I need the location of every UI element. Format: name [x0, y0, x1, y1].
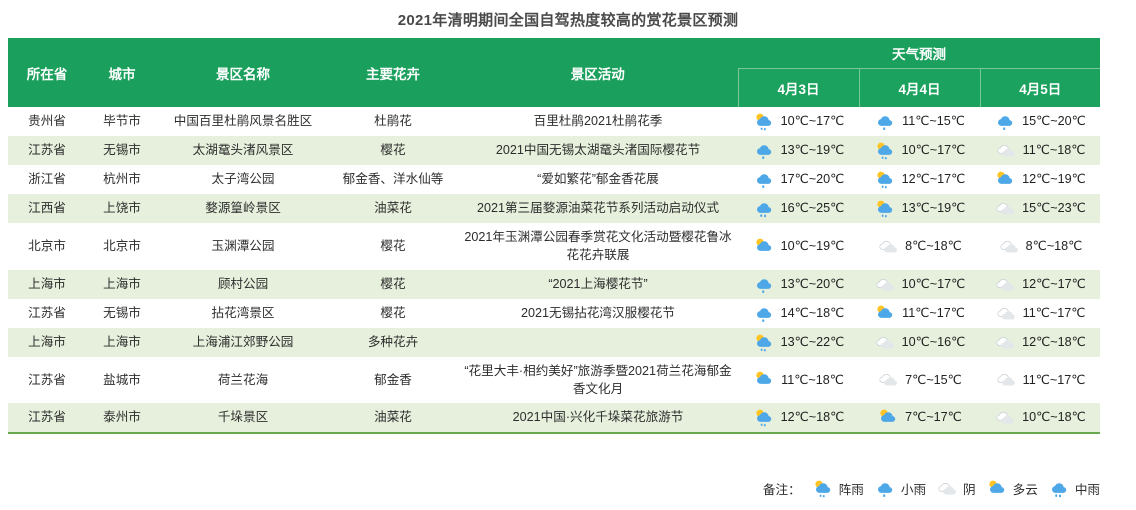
cell-city: 毕节市	[86, 107, 158, 136]
table-row[interactable]: 上海市上海市上海浦江郊野公园多种花卉13℃~22℃10℃~16℃12℃~18℃	[8, 328, 1100, 357]
cell-weather-day-3: 11℃~18℃	[980, 136, 1100, 165]
cell-city: 无锡市	[86, 136, 158, 165]
cell-main-flower: 郁金香、洋水仙等	[328, 165, 458, 194]
cell-weather-day-3: 10℃~18℃	[980, 403, 1100, 433]
cell-weather-day-1: 10℃~19℃	[738, 223, 859, 270]
header-row-main: 所在省 城市 景区名称 主要花卉 景区活动 天气预测	[8, 38, 1100, 69]
cell-city: 杭州市	[86, 165, 158, 194]
table-row[interactable]: 江西省上饶市婺源篁岭景区油菜花2021第三届婺源油菜花节系列活动启动仪式16℃~…	[8, 194, 1100, 223]
cell-scenic-activity: 2021中国·兴化千垛菜花旅游节	[458, 403, 738, 433]
cell-main-flower: 樱花	[328, 223, 458, 270]
cell-scenic-name: 太湖鼋头渚风景区	[158, 136, 328, 165]
cell-weather-day-2: 11℃~15℃	[859, 107, 980, 136]
shower-icon	[751, 333, 777, 352]
legend-label: 多云	[1012, 479, 1038, 498]
cloudy-icon	[984, 479, 1010, 498]
cell-scenic-name: 顾村公园	[158, 270, 328, 299]
col-header-city[interactable]: 城市	[86, 38, 158, 107]
temperature-range: 14℃~18℃	[781, 304, 845, 322]
cell-scenic-name: 婺源篁岭景区	[158, 194, 328, 223]
cell-weather-day-1: 13℃~20℃	[738, 270, 859, 299]
cell-scenic-activity: “爱如繁花”郁金香花展	[458, 165, 738, 194]
cell-weather-day-1: 13℃~22℃	[738, 328, 859, 357]
shower-icon	[872, 170, 898, 189]
temperature-range: 11℃~17℃	[1023, 371, 1086, 389]
table-row[interactable]: 江苏省无锡市太湖鼋头渚风景区樱花2021中国无锡太湖鼋头渚国际樱花节13℃~19…	[8, 136, 1100, 165]
cell-province: 上海市	[8, 328, 86, 357]
cell-scenic-name: 上海浦江郊野公园	[158, 328, 328, 357]
cell-main-flower: 油菜花	[328, 194, 458, 223]
legend-title: 备注：	[763, 479, 801, 498]
cell-city: 盐城市	[86, 357, 158, 404]
cell-weather-day-2: 10℃~17℃	[859, 136, 980, 165]
cell-city: 泰州市	[86, 403, 158, 433]
overcast-icon	[872, 333, 898, 352]
cell-scenic-name: 太子湾公园	[158, 165, 328, 194]
col-header-day-1[interactable]: 4月3日	[738, 69, 859, 108]
cell-weather-day-2: 11℃~17℃	[859, 299, 980, 328]
light-rain-icon	[872, 479, 898, 498]
table-row[interactable]: 江苏省盐城市荷兰花海郁金香“花里大丰·相约美好”旅游季暨2021荷兰花海郁金香文…	[8, 357, 1100, 404]
temperature-range: 12℃~17℃	[902, 170, 966, 188]
cell-scenic-name: 中国百里杜鹃风景名胜区	[158, 107, 328, 136]
overcast-icon	[872, 275, 898, 294]
col-header-weather-group: 天气预测	[738, 38, 1100, 69]
cell-city: 无锡市	[86, 299, 158, 328]
light-rain-icon	[872, 112, 898, 131]
cell-main-flower: 樱花	[328, 270, 458, 299]
cell-main-flower: 郁金香	[328, 357, 458, 404]
cloudy-icon	[751, 370, 777, 389]
cell-weather-day-2: 7℃~17℃	[859, 403, 980, 433]
temperature-range: 12℃~18℃	[781, 408, 845, 426]
moderate-rain-icon	[751, 199, 777, 218]
cell-main-flower: 樱花	[328, 136, 458, 165]
cell-scenic-activity: “2021上海樱花节”	[458, 270, 738, 299]
legend-item: 小雨	[872, 479, 926, 498]
temperature-range: 11℃~17℃	[902, 304, 965, 322]
cell-weather-day-2: 8℃~18℃	[859, 223, 980, 270]
temperature-range: 13℃~22℃	[781, 333, 845, 351]
col-header-day-3[interactable]: 4月5日	[980, 69, 1100, 108]
overcast-icon	[993, 141, 1019, 160]
cell-scenic-activity: 2021无锡拈花湾汉服樱花节	[458, 299, 738, 328]
cell-scenic-activity: “花里大丰·相约美好”旅游季暨2021荷兰花海郁金香文化月	[458, 357, 738, 404]
cell-weather-day-3: 11℃~17℃	[980, 357, 1100, 404]
table-row[interactable]: 江苏省泰州市千垛景区油菜花2021中国·兴化千垛菜花旅游节12℃~18℃7℃~1…	[8, 403, 1100, 433]
cell-city: 北京市	[86, 223, 158, 270]
table-row[interactable]: 江苏省无锡市拈花湾景区樱花2021无锡拈花湾汉服樱花节14℃~18℃11℃~17…	[8, 299, 1100, 328]
legend-label: 阵雨	[838, 479, 864, 498]
shower-icon	[751, 408, 777, 427]
cloudy-icon	[875, 408, 901, 427]
shower-icon	[872, 199, 898, 218]
cell-weather-day-3: 12℃~19℃	[980, 165, 1100, 194]
temperature-range: 11℃~18℃	[1023, 141, 1086, 159]
cell-scenic-name: 千垛景区	[158, 403, 328, 433]
temperature-range: 15℃~23℃	[1022, 199, 1086, 217]
cell-main-flower: 杜鹃花	[328, 107, 458, 136]
light-rain-icon	[751, 304, 777, 323]
cell-province: 江苏省	[8, 299, 86, 328]
cell-weather-day-1: 16℃~25℃	[738, 194, 859, 223]
temperature-range: 13℃~20℃	[781, 275, 845, 293]
col-header-scenic-name[interactable]: 景区名称	[158, 38, 328, 107]
cell-weather-day-3: 15℃~23℃	[980, 194, 1100, 223]
page-title: 2021年清明期间全国自驾热度较高的赏花景区预测	[0, 0, 1136, 30]
col-header-main-flower[interactable]: 主要花卉	[328, 38, 458, 107]
cell-city: 上海市	[86, 328, 158, 357]
cell-weather-day-1: 10℃~17℃	[738, 107, 859, 136]
cell-weather-day-2: 10℃~16℃	[859, 328, 980, 357]
cell-weather-day-3: 8℃~18℃	[980, 223, 1100, 270]
temperature-range: 7℃~15℃	[905, 371, 962, 389]
temperature-range: 10℃~19℃	[781, 237, 845, 255]
temperature-range: 17℃~20℃	[781, 170, 845, 188]
shower-icon	[810, 479, 836, 498]
cell-weather-day-2: 10℃~17℃	[859, 270, 980, 299]
cell-scenic-activity	[458, 328, 738, 357]
cloudy-icon	[992, 170, 1018, 189]
temperature-range: 10℃~18℃	[1022, 408, 1086, 426]
legend-label: 中雨	[1074, 479, 1100, 498]
cell-province: 江西省	[8, 194, 86, 223]
table-head: 所在省 城市 景区名称 主要花卉 景区活动 天气预测 4月3日 4月4日 4月5…	[8, 38, 1100, 107]
col-header-scenic-activity[interactable]: 景区活动	[458, 38, 738, 107]
light-rain-icon	[751, 141, 777, 160]
light-rain-icon	[751, 170, 777, 189]
cell-weather-day-2: 7℃~15℃	[859, 357, 980, 404]
cell-province: 江苏省	[8, 136, 86, 165]
cell-scenic-name: 荷兰花海	[158, 357, 328, 404]
cell-weather-day-3: 12℃~17℃	[980, 270, 1100, 299]
legend-item: 多云	[984, 479, 1038, 498]
legend-item: 阵雨	[810, 479, 864, 498]
shower-icon	[751, 112, 777, 131]
cell-city: 上海市	[86, 270, 158, 299]
cell-province: 上海市	[8, 270, 86, 299]
legend-label: 小雨	[900, 479, 926, 498]
cell-weather-day-3: 11℃~17℃	[980, 299, 1100, 328]
table-row[interactable]: 上海市上海市顾村公园樱花“2021上海樱花节”13℃~20℃10℃~17℃12℃…	[8, 270, 1100, 299]
cell-weather-day-3: 12℃~18℃	[980, 328, 1100, 357]
temperature-range: 16℃~25℃	[781, 199, 845, 217]
overcast-icon	[993, 304, 1019, 323]
overcast-icon	[992, 275, 1018, 294]
temperature-range: 10℃~17℃	[781, 112, 845, 130]
light-rain-icon	[751, 275, 777, 294]
cell-main-flower: 多种花卉	[328, 328, 458, 357]
forecast-table-wrapper: 所在省 城市 景区名称 主要花卉 景区活动 天气预测 4月3日 4月4日 4月5…	[8, 38, 1100, 434]
cell-scenic-activity: 2021第三届婺源油菜花节系列活动启动仪式	[458, 194, 738, 223]
cell-weather-day-1: 14℃~18℃	[738, 299, 859, 328]
cell-scenic-name: 拈花湾景区	[158, 299, 328, 328]
cell-main-flower: 樱花	[328, 299, 458, 328]
cell-weather-day-3: 15℃~20℃	[980, 107, 1100, 136]
forecast-table: 所在省 城市 景区名称 主要花卉 景区活动 天气预测 4月3日 4月4日 4月5…	[8, 38, 1100, 434]
temperature-range: 8℃~18℃	[1026, 237, 1083, 255]
cell-province: 浙江省	[8, 165, 86, 194]
temperature-range: 10℃~17℃	[902, 275, 966, 293]
temperature-range: 15℃~20℃	[1022, 112, 1086, 130]
temperature-range: 13℃~19℃	[902, 199, 966, 217]
cell-province: 江苏省	[8, 357, 86, 404]
cell-weather-day-1: 17℃~20℃	[738, 165, 859, 194]
light-rain-icon	[992, 112, 1018, 131]
overcast-icon	[934, 479, 960, 498]
shower-icon	[872, 141, 898, 160]
overcast-icon	[992, 333, 1018, 352]
table-row[interactable]: 北京市北京市玉渊潭公园樱花2021年玉渊潭公园春季赏花文化活动暨樱花鲁冰花花卉联…	[8, 223, 1100, 270]
col-header-day-2[interactable]: 4月4日	[859, 69, 980, 108]
cell-weather-day-2: 13℃~19℃	[859, 194, 980, 223]
overcast-icon	[993, 370, 1019, 389]
cell-scenic-activity: 百里杜鹃2021杜鹃花季	[458, 107, 738, 136]
cell-weather-day-1: 11℃~18℃	[738, 357, 859, 404]
temperature-range: 13℃~19℃	[781, 141, 845, 159]
table-row[interactable]: 贵州省毕节市中国百里杜鹃风景名胜区杜鹃花百里杜鹃2021杜鹃花季10℃~17℃1…	[8, 107, 1100, 136]
cell-city: 上饶市	[86, 194, 158, 223]
col-header-province[interactable]: 所在省	[8, 38, 86, 107]
temperature-range: 12℃~19℃	[1022, 170, 1086, 188]
cloudy-icon	[872, 304, 898, 323]
temperature-range: 12℃~18℃	[1022, 333, 1086, 351]
overcast-icon	[875, 370, 901, 389]
temperature-range: 11℃~15℃	[902, 112, 965, 130]
cell-scenic-activity: 2021年玉渊潭公园春季赏花文化活动暨樱花鲁冰花花卉联展	[458, 223, 738, 270]
overcast-icon	[996, 237, 1022, 256]
legend-label: 阴	[962, 479, 976, 498]
overcast-icon	[992, 199, 1018, 218]
cell-province: 贵州省	[8, 107, 86, 136]
moderate-rain-icon	[1046, 479, 1072, 498]
temperature-range: 11℃~18℃	[781, 371, 844, 389]
cloudy-icon	[751, 237, 777, 256]
overcast-icon	[875, 237, 901, 256]
cell-province: 江苏省	[8, 403, 86, 433]
legend-item: 阴	[934, 479, 976, 498]
overcast-icon	[992, 408, 1018, 427]
temperature-range: 10℃~16℃	[902, 333, 966, 351]
temperature-range: 10℃~17℃	[902, 141, 966, 159]
cell-main-flower: 油菜花	[328, 403, 458, 433]
temperature-range: 11℃~17℃	[1023, 304, 1086, 322]
cell-weather-day-1: 13℃~19℃	[738, 136, 859, 165]
cell-weather-day-2: 12℃~17℃	[859, 165, 980, 194]
cell-scenic-activity: 2021中国无锡太湖鼋头渚国际樱花节	[458, 136, 738, 165]
table-body: 贵州省毕节市中国百里杜鹃风景名胜区杜鹃花百里杜鹃2021杜鹃花季10℃~17℃1…	[8, 107, 1100, 433]
cell-scenic-name: 玉渊潭公园	[158, 223, 328, 270]
temperature-range: 12℃~17℃	[1022, 275, 1086, 293]
temperature-range: 7℃~17℃	[905, 408, 962, 426]
temperature-range: 8℃~18℃	[905, 237, 962, 255]
cell-province: 北京市	[8, 223, 86, 270]
legend: 备注： 阵雨小雨阴多云中雨	[763, 479, 1108, 498]
legend-items: 阵雨小雨阴多云中雨	[810, 479, 1108, 498]
cell-weather-day-1: 12℃~18℃	[738, 403, 859, 433]
table-row[interactable]: 浙江省杭州市太子湾公园郁金香、洋水仙等“爱如繁花”郁金香花展17℃~20℃12℃…	[8, 165, 1100, 194]
legend-item: 中雨	[1046, 479, 1100, 498]
